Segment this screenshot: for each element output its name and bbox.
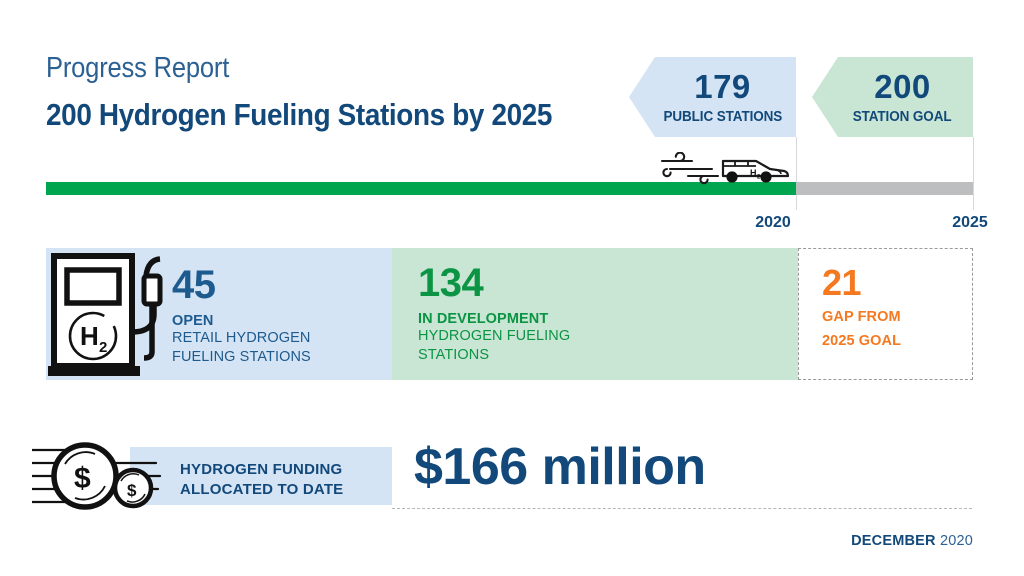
- stat-open-stations-line2: FUELING STATIONS: [172, 348, 311, 367]
- page-title: 200 Hydrogen Fueling Stations by 2025: [46, 97, 552, 133]
- svg-text:$: $: [127, 481, 137, 500]
- badge-public-stations-label: PUBLIC STATIONS: [663, 109, 782, 125]
- funding-label-line2: ALLOCATED TO DATE: [180, 480, 343, 500]
- stat-in-development-headline: IN DEVELOPMENT: [418, 311, 570, 327]
- funding-label-line1: HYDROGEN FUNDING: [180, 460, 343, 480]
- badge-station-goal: 200 STATION GOAL: [812, 57, 973, 137]
- coins-icon: $ $: [32, 436, 166, 514]
- timeline-label-2025: 2025: [952, 214, 988, 232]
- infographic-canvas: Progress Report 200 Hydrogen Fueling Sta…: [0, 0, 1024, 576]
- timeline-tick-2025: [973, 137, 974, 210]
- stat-open-stations-headline: OPEN: [172, 313, 311, 329]
- stat-in-development-line1: HYDROGEN FUELING: [418, 327, 570, 346]
- timeline-remaining-bar: [796, 182, 973, 195]
- svg-text:H: H: [80, 321, 99, 351]
- badge-public-stations: 179 PUBLIC STATIONS: [629, 57, 796, 137]
- funding-label: HYDROGEN FUNDING ALLOCATED TO DATE: [180, 460, 343, 500]
- badge-station-goal-label: STATION GOAL: [853, 109, 952, 125]
- timeline-tick-2020: [796, 137, 797, 210]
- stat-in-development: 134 IN DEVELOPMENT HYDROGEN FUELING STAT…: [418, 263, 570, 364]
- stat-gap-from-goal-headline: GAP FROM: [822, 309, 901, 325]
- page-subtitle: Progress Report: [46, 52, 229, 85]
- stat-gap-from-goal-value: 21: [822, 265, 901, 301]
- stat-gap-from-goal: 21 GAP FROM 2025 GOAL: [822, 265, 901, 349]
- stat-open-stations: 45 OPEN RETAIL HYDROGEN FUELING STATIONS: [172, 265, 311, 366]
- footer-date: DECEMBER 2020: [851, 533, 973, 549]
- footer-month: DECEMBER: [851, 533, 936, 549]
- stat-gap-from-goal-line1: 2025 GOAL: [822, 333, 901, 349]
- footer-year: 2020: [940, 533, 973, 549]
- funding-divider: [392, 508, 972, 509]
- hydrogen-car-icon: H 2: [660, 152, 790, 186]
- svg-text:$: $: [74, 462, 91, 495]
- stat-in-development-value: 134: [418, 263, 570, 303]
- svg-text:2: 2: [99, 339, 107, 356]
- stat-open-stations-line1: RETAIL HYDROGEN: [172, 329, 311, 348]
- timeline-label-2020: 2020: [755, 214, 791, 232]
- stat-in-development-line2: STATIONS: [418, 346, 570, 365]
- stat-open-stations-value: 45: [172, 265, 311, 305]
- fuel-pump-icon: H 2: [46, 248, 166, 380]
- badge-public-stations-value: 179: [694, 70, 751, 103]
- badge-station-goal-value: 200: [874, 70, 931, 103]
- funding-amount: $166 million: [414, 441, 706, 493]
- svg-text:H: H: [750, 168, 757, 178]
